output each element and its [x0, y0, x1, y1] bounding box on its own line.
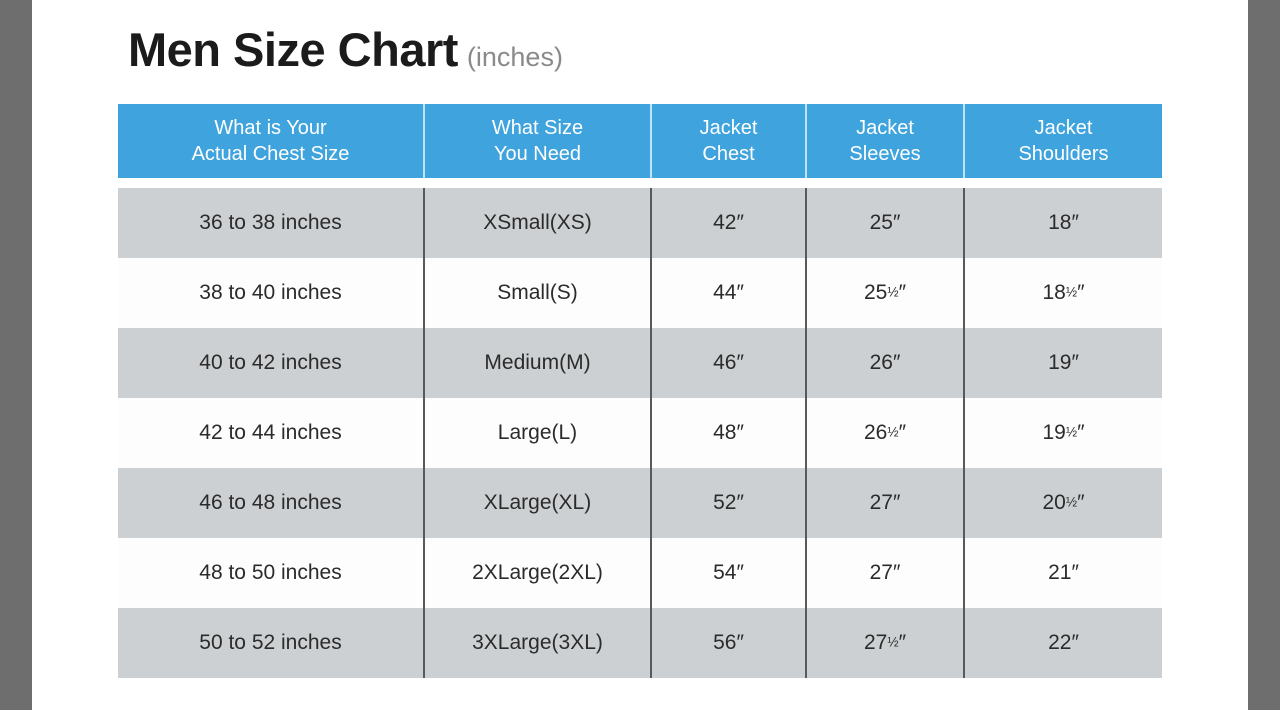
column-header-line2: Sleeves — [849, 143, 920, 165]
cell-jacket-sleeves: 27″ — [806, 538, 964, 608]
column-header-line1: Jacket — [856, 117, 914, 139]
measurement-fraction: ½ — [1066, 285, 1077, 300]
column-header-line2: Chest — [702, 143, 754, 165]
inch-mark: ″ — [893, 211, 900, 234]
cell-jacket-chest: 46″ — [651, 328, 806, 398]
measurement-whole: 18 — [1042, 281, 1065, 304]
inch-mark: ″ — [1077, 281, 1084, 304]
inch-mark: ″ — [736, 421, 743, 444]
cell-jacket-shoulders: 19½″ — [964, 398, 1162, 468]
table-row: 46 to 48 inchesXLarge(XL)52″27″20½″ — [118, 468, 1162, 538]
table-row: 38 to 40 inchesSmall(S)44″25½″18½″ — [118, 258, 1162, 328]
cell-size-you-need: Large(L) — [424, 398, 651, 468]
measurement-whole: 27 — [870, 561, 893, 584]
inch-mark: ″ — [899, 281, 906, 304]
inch-mark: ″ — [893, 491, 900, 514]
cell-jacket-shoulders: 19″ — [964, 328, 1162, 398]
letterbox-band-right — [1248, 0, 1280, 710]
column-header-size-you-need: What Size You Need — [424, 104, 651, 178]
cell-actual-chest-size: 36 to 38 inches — [118, 188, 424, 258]
table-row: 50 to 52 inches3XLarge(3XL)56″27½″22″ — [118, 608, 1162, 678]
inch-mark: ″ — [736, 491, 743, 514]
measurement-fraction: ½ — [887, 425, 898, 440]
inch-mark: ″ — [899, 631, 906, 654]
cell-actual-chest-size: 38 to 40 inches — [118, 258, 424, 328]
column-header-jacket-sleeves: Jacket Sleeves — [806, 104, 964, 178]
table-row: 42 to 44 inchesLarge(L)48″26½″19½″ — [118, 398, 1162, 468]
measurement-whole: 21 — [1048, 561, 1071, 584]
table-header: What is Your Actual Chest Size What Size… — [118, 104, 1162, 178]
measurement-whole: 26 — [864, 421, 887, 444]
measurement-whole: 22 — [1048, 631, 1071, 654]
cell-jacket-chest: 52″ — [651, 468, 806, 538]
column-header-line1: What Size — [492, 117, 583, 139]
measurement-fraction: ½ — [887, 285, 898, 300]
measurement-fraction: ½ — [1066, 425, 1077, 440]
inch-mark: ″ — [1071, 561, 1078, 584]
page-title-unit-note: (inches) — [467, 42, 563, 73]
cell-jacket-sleeves: 27½″ — [806, 608, 964, 678]
measurement-whole: 19 — [1042, 421, 1065, 444]
cell-jacket-shoulders: 20½″ — [964, 468, 1162, 538]
inch-mark: ″ — [1071, 351, 1078, 374]
inch-mark: ″ — [736, 561, 743, 584]
table-header-gap — [118, 178, 1162, 188]
cell-size-you-need: 2XLarge(2XL) — [424, 538, 651, 608]
measurement-whole: 46 — [713, 351, 736, 374]
inch-mark: ″ — [736, 281, 743, 304]
measurement-whole: 44 — [713, 281, 736, 304]
inch-mark: ″ — [1071, 631, 1078, 654]
cell-jacket-shoulders: 22″ — [964, 608, 1162, 678]
measurement-whole: 52 — [713, 491, 736, 514]
inch-mark: ″ — [736, 631, 743, 654]
table-body: 36 to 38 inchesXSmall(XS)42″25″18″38 to … — [118, 178, 1162, 678]
measurement-whole: 56 — [713, 631, 736, 654]
measurement-whole: 19 — [1048, 351, 1071, 374]
cell-actual-chest-size: 46 to 48 inches — [118, 468, 424, 538]
column-header-line1: Jacket — [700, 117, 758, 139]
measurement-fraction: ½ — [887, 635, 898, 650]
inch-mark: ″ — [1077, 491, 1084, 514]
cell-jacket-shoulders: 18″ — [964, 188, 1162, 258]
measurement-whole: 42 — [713, 211, 736, 234]
cell-jacket-sleeves: 25″ — [806, 188, 964, 258]
measurement-whole: 20 — [1042, 491, 1065, 514]
column-header-line2: You Need — [494, 143, 581, 165]
size-chart-page: Men Size Chart (inches) What is Your Act… — [32, 0, 1248, 710]
table-row: 48 to 50 inches2XLarge(2XL)54″27″21″ — [118, 538, 1162, 608]
page-title: Men Size Chart (inches) — [128, 22, 563, 77]
cell-jacket-chest: 44″ — [651, 258, 806, 328]
inch-mark: ″ — [1077, 421, 1084, 444]
column-header-line1: What is Your — [214, 117, 326, 139]
measurement-whole: 25 — [870, 211, 893, 234]
cell-jacket-shoulders: 18½″ — [964, 258, 1162, 328]
measurement-whole: 27 — [864, 631, 887, 654]
cell-actual-chest-size: 40 to 42 inches — [118, 328, 424, 398]
column-header-jacket-chest: Jacket Chest — [651, 104, 806, 178]
cell-jacket-sleeves: 26″ — [806, 328, 964, 398]
measurement-whole: 27 — [870, 491, 893, 514]
column-header-actual-chest-size: What is Your Actual Chest Size — [118, 104, 424, 178]
cell-size-you-need: Medium(M) — [424, 328, 651, 398]
cell-jacket-chest: 54″ — [651, 538, 806, 608]
cell-jacket-sleeves: 25½″ — [806, 258, 964, 328]
inch-mark: ″ — [736, 351, 743, 374]
cell-size-you-need: 3XLarge(3XL) — [424, 608, 651, 678]
inch-mark: ″ — [899, 421, 906, 444]
cell-actual-chest-size: 50 to 52 inches — [118, 608, 424, 678]
measurement-whole: 25 — [864, 281, 887, 304]
table-row: 36 to 38 inchesXSmall(XS)42″25″18″ — [118, 188, 1162, 258]
page-title-main: Men Size Chart — [128, 22, 458, 77]
column-header-line1: Jacket — [1035, 117, 1093, 139]
cell-jacket-sleeves: 27″ — [806, 468, 964, 538]
measurement-whole: 26 — [870, 351, 893, 374]
measurement-whole: 18 — [1048, 211, 1071, 234]
column-header-line2: Actual Chest Size — [192, 143, 350, 165]
cell-actual-chest-size: 48 to 50 inches — [118, 538, 424, 608]
measurement-fraction: ½ — [1066, 495, 1077, 510]
inch-mark: ″ — [1071, 211, 1078, 234]
cell-size-you-need: XLarge(XL) — [424, 468, 651, 538]
measurement-whole: 54 — [713, 561, 736, 584]
cell-jacket-shoulders: 21″ — [964, 538, 1162, 608]
table-header-row: What is Your Actual Chest Size What Size… — [118, 104, 1162, 178]
screen: Men Size Chart (inches) What is Your Act… — [0, 0, 1280, 710]
table-header-gap-cell — [118, 178, 1162, 188]
measurement-whole: 48 — [713, 421, 736, 444]
cell-size-you-need: XSmall(XS) — [424, 188, 651, 258]
cell-jacket-chest: 42″ — [651, 188, 806, 258]
inch-mark: ″ — [893, 351, 900, 374]
table-row: 40 to 42 inchesMedium(M)46″26″19″ — [118, 328, 1162, 398]
column-header-line2: Shoulders — [1018, 143, 1108, 165]
cell-size-you-need: Small(S) — [424, 258, 651, 328]
letterbox-band-left — [0, 0, 32, 710]
cell-jacket-sleeves: 26½″ — [806, 398, 964, 468]
column-header-jacket-shoulders: Jacket Shoulders — [964, 104, 1162, 178]
inch-mark: ″ — [893, 561, 900, 584]
cell-jacket-chest: 48″ — [651, 398, 806, 468]
size-chart-table: What is Your Actual Chest Size What Size… — [118, 104, 1162, 678]
cell-jacket-chest: 56″ — [651, 608, 806, 678]
cell-actual-chest-size: 42 to 44 inches — [118, 398, 424, 468]
inch-mark: ″ — [736, 211, 743, 234]
